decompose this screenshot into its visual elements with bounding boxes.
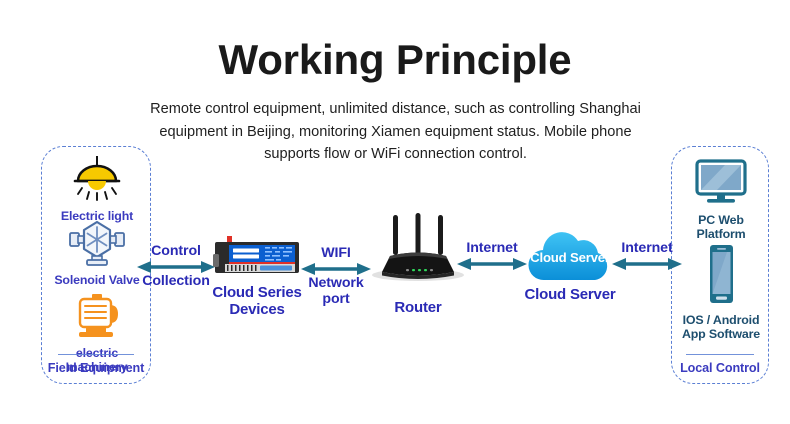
field-equipment-label: Field Equipment [42,361,150,375]
connector-router-to-cloud: Internet [456,241,528,271]
connector-label-bottom: Network port [300,276,372,308]
monitor-icon [691,157,751,207]
connector-label-top: Internet [611,241,683,257]
local-control-panel: PC Web Platform IOS / Android App Softwa… [671,146,769,384]
panel-item-app-software: IOS / Android App Software [672,243,770,342]
page-description: Remote control equipment, unlimited dist… [143,98,648,166]
panel-item-pc-web-platform: PC Web Platform [672,157,770,242]
connector-label-top: Control [136,244,216,260]
lamp-icon [66,155,128,203]
connector-equipment-to-device: Control Collection [136,244,216,290]
bidirectional-arrow-icon [456,257,528,271]
panel-item-label: PC Web Platform [672,214,770,242]
solenoid-valve-icon [66,219,128,267]
motor-icon [66,292,128,340]
smartphone-icon [691,243,751,307]
bidirectional-arrow-icon [611,257,683,271]
cloud-server-label: Cloud Server [508,286,632,303]
working-principle-diagram: Working Principle Remote control equipme… [0,0,790,424]
router-icon [368,213,468,285]
connector-label-top: Internet [456,241,528,257]
field-equipment-panel: Electric light So [41,146,151,384]
router-label: Router [368,299,468,316]
panel-item-electric-light: Electric light [42,155,152,224]
local-control-label: Local Control [672,361,768,375]
panel-divider [58,354,134,355]
page-title: Working Principle [0,38,790,82]
router [368,213,468,290]
connector-device-to-router: WIFI Network port [300,246,372,308]
cloud-series-device [213,236,301,283]
bidirectional-arrow-icon [136,260,216,274]
connector-label-top: WIFI [300,246,372,262]
cloud-series-device-icon [213,236,301,278]
panel-item-label: IOS / Android App Software [672,314,770,342]
connector-cloud-to-clients: Internet [611,241,683,271]
cloud-icon [524,228,616,288]
panel-divider [686,354,754,355]
bidirectional-arrow-icon [300,262,372,276]
cloud-server: Cloud Server [524,228,616,288]
